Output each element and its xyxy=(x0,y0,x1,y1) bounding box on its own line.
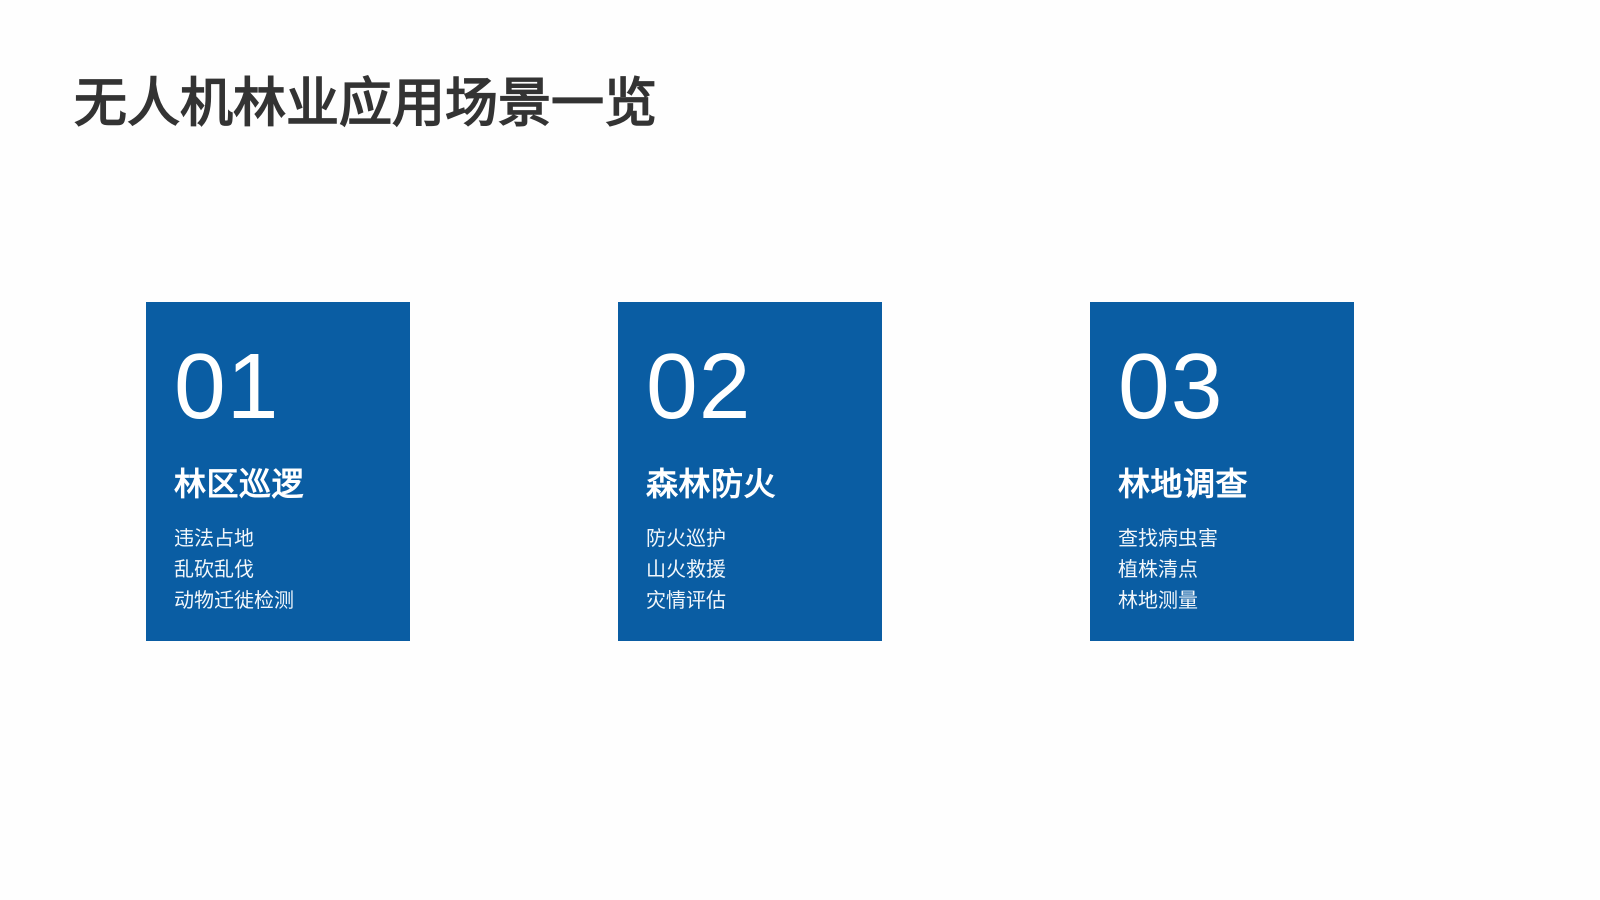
scenario-card-01[interactable]: 01 林区巡逻 违法占地 乱砍乱伐 动物迁徙检测 xyxy=(146,302,410,641)
card-number-01: 01 xyxy=(174,340,279,433)
list-item: 林地测量 xyxy=(1118,586,1218,617)
slide-canvas: 无人机林业应用场景一览 01 林区巡逻 违法占地 乱砍乱伐 动物迁徙检测 02 … xyxy=(0,0,1600,900)
scenario-card-row: 01 林区巡逻 违法占地 乱砍乱伐 动物迁徙检测 02 森林防火 防火巡护 山火… xyxy=(146,302,1446,642)
card-heading-01: 林区巡逻 xyxy=(174,467,304,502)
list-item: 乱砍乱伐 xyxy=(174,555,294,586)
card-item-list-03: 查找病虫害 植株清点 林地测量 xyxy=(1118,524,1218,617)
list-item: 植株清点 xyxy=(1118,555,1218,586)
card-item-list-01: 违法占地 乱砍乱伐 动物迁徙检测 xyxy=(174,524,294,617)
card-number-03: 03 xyxy=(1118,340,1223,433)
list-item: 违法占地 xyxy=(174,524,294,555)
scenario-card-03[interactable]: 03 林地调查 查找病虫害 植株清点 林地测量 xyxy=(1090,302,1354,641)
card-item-list-02: 防火巡护 山火救援 灾情评估 xyxy=(646,524,726,617)
card-number-02: 02 xyxy=(646,340,751,433)
page-title: 无人机林业应用场景一览 xyxy=(74,74,657,135)
scenario-card-02[interactable]: 02 森林防火 防火巡护 山火救援 灾情评估 xyxy=(618,302,882,641)
list-item: 灾情评估 xyxy=(646,586,726,617)
list-item: 动物迁徙检测 xyxy=(174,586,294,617)
list-item: 山火救援 xyxy=(646,555,726,586)
list-item: 防火巡护 xyxy=(646,524,726,555)
list-item: 查找病虫害 xyxy=(1118,524,1218,555)
card-heading-03: 林地调查 xyxy=(1118,467,1248,502)
card-heading-02: 森林防火 xyxy=(646,467,776,502)
